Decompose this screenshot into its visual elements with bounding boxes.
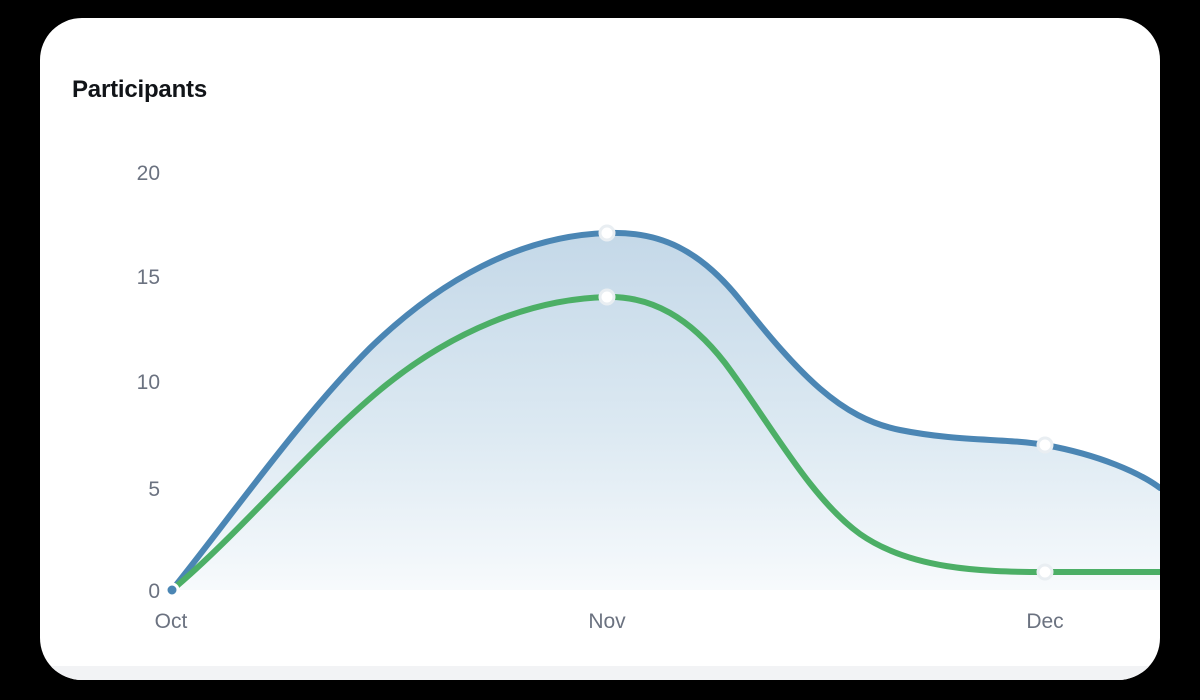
- area-fill-blue: [172, 233, 1160, 590]
- screen-root: Participants 0: [0, 0, 1200, 700]
- y-axis-tick-20: 20: [137, 162, 160, 185]
- participants-line-chart[interactable]: 0 5 10 15 20 Oct Nov Dec: [40, 18, 1160, 680]
- data-point-marker-green-dec[interactable]: [1038, 565, 1052, 579]
- x-axis-tick-nov: Nov: [588, 610, 626, 633]
- x-axis-tick-dec: Dec: [1026, 610, 1063, 633]
- data-point-marker-green-nov[interactable]: [600, 290, 614, 304]
- y-axis-tick-0: 0: [148, 580, 160, 603]
- x-axis-tick-oct: Oct: [155, 610, 188, 633]
- y-axis-tick-10: 10: [137, 371, 160, 394]
- y-axis-tick-5: 5: [148, 478, 160, 501]
- data-point-marker-blue-oct[interactable]: [166, 584, 178, 596]
- data-point-marker-blue-dec[interactable]: [1038, 438, 1052, 452]
- y-axis-tick-15: 15: [137, 266, 160, 289]
- chart-card: Participants 0: [40, 18, 1160, 680]
- data-point-marker-blue-nov[interactable]: [600, 226, 614, 240]
